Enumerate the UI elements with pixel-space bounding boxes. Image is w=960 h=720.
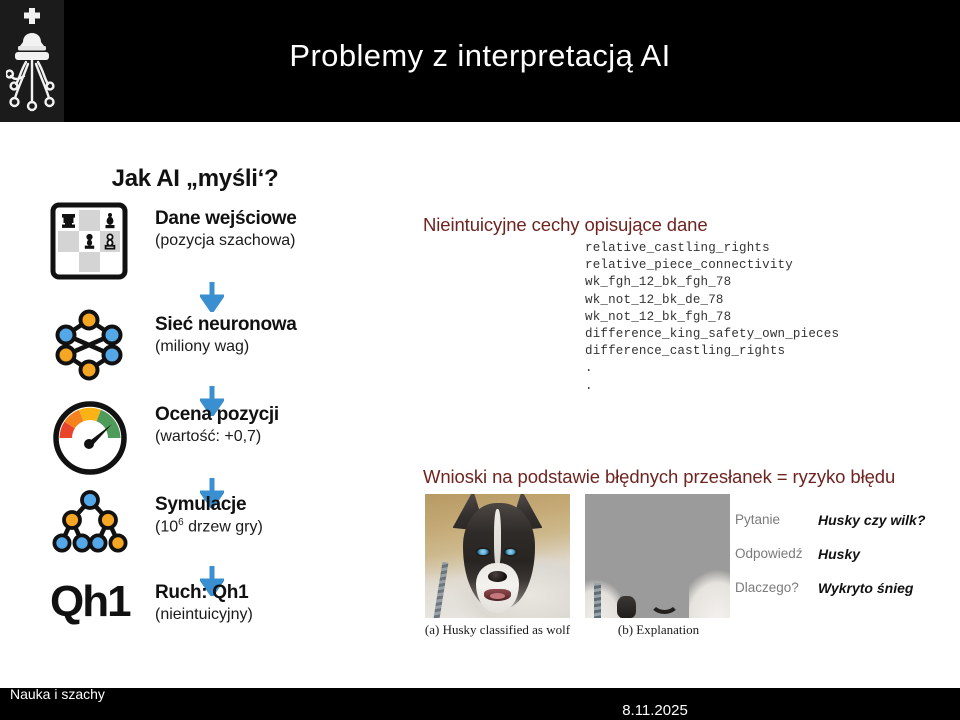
qa-row: Pytanie Husky czy wilk? [735,512,950,546]
infographic-step-simulations-text: Symulacje (106 drzew gry) [155,494,390,538]
ai-thinking-infographic: Jak AI „myśli‘? [30,160,390,660]
husky-eye-left [477,549,489,556]
husky-blaze [494,509,501,569]
sub-pre: (10 [155,519,178,536]
mask-dog-fragment [617,596,636,618]
feature-item: . [585,360,839,377]
features-heading: Nieintuicyjne cechy opisujące dane [423,214,708,236]
step-head: Dane wejściowe [155,208,390,229]
qa-label: Dlaczego? [735,580,799,595]
feature-list: relative_castling_rights relative_piece_… [585,240,839,395]
qh1-label: Qh1 [50,580,130,624]
step-head: Ruch: Qh1 [155,582,390,603]
step-head: Symulacje [155,494,390,515]
step-sub: (nieintuicyjny) [155,605,390,625]
qa-label: Odpowiedź [735,546,803,561]
footer-brand: Nauka i szachy [10,686,105,702]
feature-item: wk_not_12_bk_de_78 [585,292,839,309]
feature-item: wk_not_12_bk_fgh_78 [585,309,839,326]
step-head: Sieć neuronowa [155,314,390,335]
qa-row: Odpowiedź Husky [735,546,950,580]
step-head: Ocena pozycji [155,404,390,425]
husky-nose [488,571,507,582]
game-tree-icon [50,488,138,568]
mask-leash [594,583,601,618]
feature-item: relative_castling_rights [585,240,839,257]
step-sub: (106 drzew gry) [155,517,390,537]
infographic-step-input-text: Dane wejściowe (pozycja szachowa) [155,208,390,251]
infographic-step-input: Dane wejściowe (pozycja szachowa) [50,202,390,282]
step-sub: (pozycja szachowa) [155,231,390,251]
feature-item: relative_piece_connectivity [585,257,839,274]
husky-photo [425,494,570,618]
infographic-step-move: Qh1 Ruch: Qh1 (nieintuicyjny) [50,576,390,656]
sub-post: drzew gry) [184,519,263,536]
feature-item: difference_king_safety_own_pieces [585,326,839,343]
step-sub: (wartość: +0,7) [155,427,390,447]
feature-item: wk_fgh_12_bk_fgh_78 [585,274,839,291]
gauge-icon [50,398,138,478]
infographic-step-network: Sieć neuronowa (miliony wag) [50,308,390,388]
feature-item: . [585,378,839,395]
explanation-mask-image [585,494,730,618]
qa-value: Husky czy wilk? [818,512,925,528]
infographic-step-move-text: Ruch: Qh1 (nieintuicyjny) [155,582,390,625]
page-title: Problemy z interpretacją AI [0,38,960,74]
figure-caption-b: (b) Explanation [577,622,740,638]
qh1-text-icon: Qh1 [50,576,138,656]
step-sub: (miliony wag) [155,337,390,357]
feature-item: difference_castling_rights [585,343,839,360]
mask-snow-left [585,573,620,618]
infographic-step-simulations: Symulacje (106 drzew gry) [50,488,390,568]
qa-value: Husky [818,546,860,562]
infographic-step-network-text: Sieć neuronowa (miliony wag) [155,314,390,357]
infographic-step-evaluation-text: Ocena pozycji (wartość: +0,7) [155,404,390,447]
conclusion-heading: Wnioski na podstawie błędnych przesłanek… [423,466,895,488]
infographic-title: Jak AI „myśli‘? [30,165,360,193]
figure-caption-a: (a) Husky classified as wolf [416,622,579,638]
footer-date: 8.11.2025 [175,702,960,719]
qa-label: Pytanie [735,512,780,527]
qa-row: Dlaczego? Wykryto śnieg [735,580,950,614]
qa-table: Pytanie Husky czy wilk? Odpowiedź Husky … [735,512,950,614]
mask-snow-right [689,563,730,618]
slide-canvas: Problemy z interpretacją AI Jak AI „myśl… [0,0,960,720]
neural-network-icon [50,308,138,388]
header-bar: Problemy z interpretacją AI [0,0,960,122]
chessboard-icon [50,202,138,282]
qa-value: Wykryto śnieg [818,580,913,596]
infographic-step-evaluation: Ocena pozycji (wartość: +0,7) [50,398,390,478]
